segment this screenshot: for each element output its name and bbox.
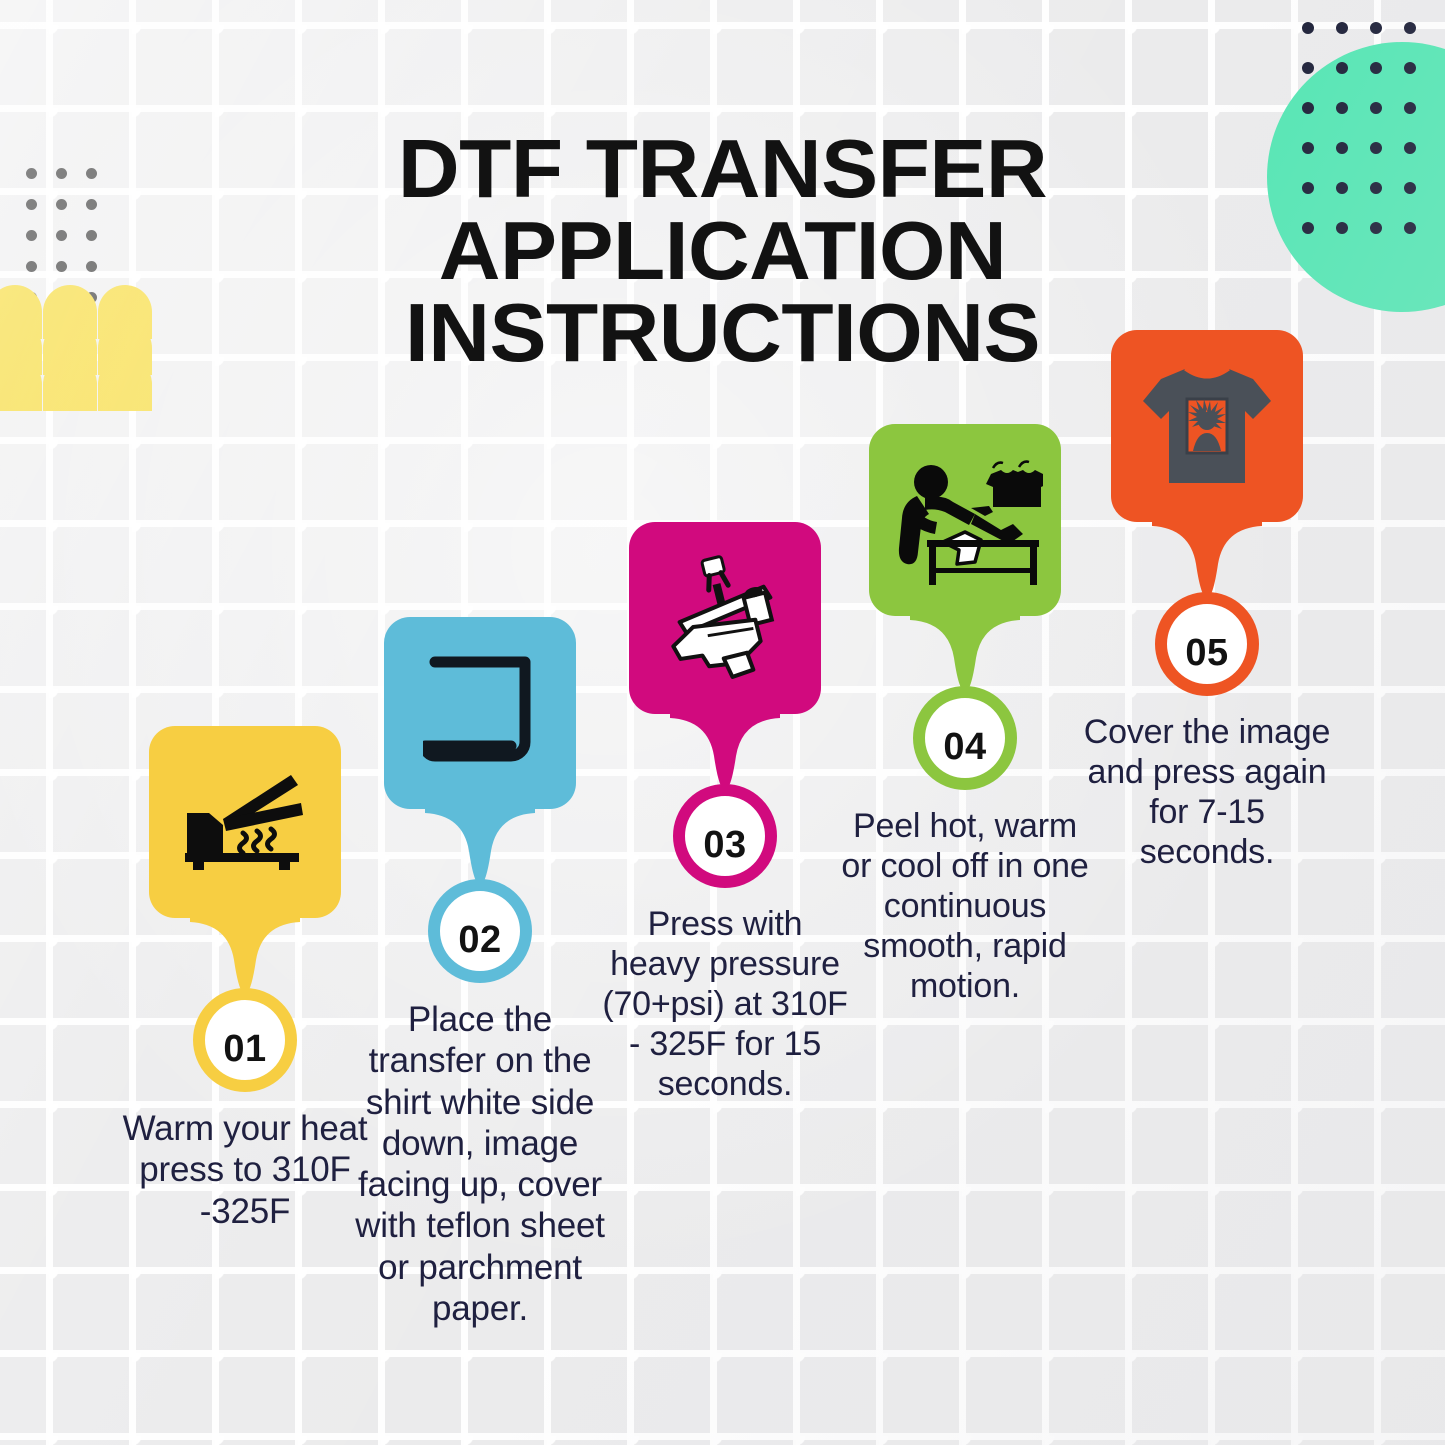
step-item-01: 01 Warm your heat press to 310F -325F	[120, 726, 370, 1232]
step-connector-04: 04	[840, 614, 1090, 800]
step-item-03: 03 Press with heavy pressure (70+psi) at…	[600, 522, 850, 1105]
decorative-dot	[1370, 62, 1382, 74]
decorative-dot	[1336, 62, 1348, 74]
step-description-03: Press with heavy pressure (70+psi) at 31…	[600, 904, 850, 1105]
heat-press-machine-icon	[658, 553, 792, 683]
decorative-dot	[1404, 22, 1416, 34]
step-description-04: Peel hot, warm or cool off in one contin…	[840, 806, 1090, 1007]
step-connector-01: 01	[120, 916, 370, 1102]
heat-press-open-icon	[179, 767, 311, 877]
page-title-line-1: DTF TRANSFER APPLICATION	[398, 122, 1047, 297]
step-description-02: Place the transfer on the shirt white si…	[355, 999, 605, 1329]
step-connector-03: 03	[600, 712, 850, 898]
step-item-04: 04 Peel hot, warm or cool off in one con…	[840, 424, 1090, 1007]
decorative-dot	[1336, 22, 1348, 34]
step-number-04: 04	[840, 726, 1090, 769]
decorative-dot	[1370, 22, 1382, 34]
step-item-05: 05 Cover the image and press again for 7…	[1082, 330, 1332, 872]
decorative-dot	[1302, 102, 1314, 114]
step-description-05: Cover the image and press again for 7-15…	[1082, 712, 1332, 872]
person-peeling-transfer-icon	[887, 454, 1043, 586]
step-card-04[interactable]	[869, 424, 1061, 616]
decorative-dot	[1404, 62, 1416, 74]
printed-tshirt-icon	[1137, 363, 1277, 489]
decorative-dot	[1302, 22, 1314, 34]
step-connector-05: 05	[1082, 520, 1332, 706]
step-card-05[interactable]	[1111, 330, 1303, 522]
infographic-root: DTF TRANSFER APPLICATION INSTRUCTIONS	[0, 0, 1445, 1445]
decorative-dot	[1370, 102, 1382, 114]
step-connector-02: 02	[355, 807, 605, 993]
step-card-02[interactable]	[384, 617, 576, 809]
step-card-03[interactable]	[629, 522, 821, 714]
decorative-dot	[1302, 62, 1314, 74]
step-description-01: Warm your heat press to 310F -325F	[120, 1108, 370, 1232]
step-number-02: 02	[355, 919, 605, 962]
decorative-dot	[1404, 102, 1416, 114]
step-number-01: 01	[120, 1028, 370, 1071]
step-item-02: 02 Place the transfer on the shirt white…	[355, 617, 605, 1329]
transfer-sheet-icon	[423, 654, 537, 772]
step-number-03: 03	[600, 824, 850, 867]
step-card-01[interactable]	[149, 726, 341, 918]
step-number-05: 05	[1082, 632, 1332, 675]
decorative-dot	[1336, 102, 1348, 114]
